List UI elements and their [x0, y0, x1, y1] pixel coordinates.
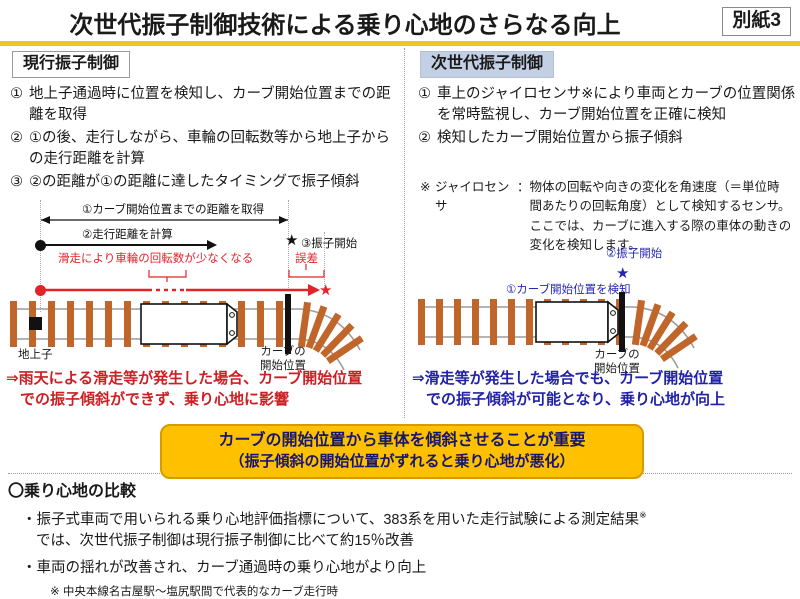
comparison-bullet-1-ref: ※ [639, 510, 647, 520]
list-item: ② 検知したカーブ開始位置から振子傾斜 [418, 128, 796, 149]
list-item-number: ① [418, 84, 437, 125]
list-item: ① 車上のジャイロセンサ※により車両とカーブの位置関係を常時監視し、カーブ開始位… [418, 84, 796, 125]
list-item-text: ①の後、走行しながら、車輪の回転数等から地上子からの走行距離を計算 [29, 128, 398, 169]
diagram-next-gen-control: ②振子開始 ★ ①カーブ開始位置を検知 [416, 248, 796, 368]
heading-current-control: 現行振子制御 [12, 51, 130, 78]
page-title: 次世代振子制御技術による乗り心地のさらなる向上 [0, 5, 690, 40]
label-curve-start-line1: カーブの [594, 349, 639, 361]
key-message-box: カーブの開始位置から車体を傾斜させることが重要 （振子傾斜の開始位置がずれると乗… [160, 424, 644, 479]
annotation-detect-label: ①カーブ開始位置を検知 [506, 284, 631, 297]
label-ground-coil: 地上子 [18, 348, 53, 362]
title-row: 次世代振子制御技術による乗り心地のさらなる向上 別紙3 [0, 2, 800, 40]
tilt-start-star-black: ★ [285, 233, 298, 248]
comparison-section: 〇乗り心地の比較 ・振子式車両で用いられる乗り心地評価指標について、383系を用… [8, 482, 798, 599]
footnote-body: 物体の回転や向きの変化を角速度（＝単位時間あたりの回転角度）として検知するセンサ… [530, 178, 792, 256]
annotation-slip-label: 滑走により車輪の回転数が少なくなる [58, 253, 253, 266]
ground-coil-dot-black [35, 240, 46, 251]
comparison-bullet-1-line1: ・振子式車両で用いられる乗り心地評価指標について、383系を用いた走行試験による… [22, 512, 639, 528]
conclusion-next-gen-control: ⇒滑走等が発生した場合でも、カーブ開始位置 での振子傾斜が可能となり、乗り心地が… [412, 369, 798, 410]
footnote-gyro-sensor: ※ ジャイロセンサ ： 物体の回転や向きの変化を角速度（＝単位時間あたりの回転角… [420, 178, 792, 256]
tilt-start-star-blue: ★ [616, 266, 629, 281]
footnote-term: ジャイロセンサ [435, 178, 517, 256]
list-item-number: ① [10, 84, 29, 125]
annotation-distance-label: ①カーブ開始位置までの距離を取得 [82, 204, 264, 217]
slide-page: 次世代振子制御技術による乗り心地のさらなる向上 別紙3 現行振子制御 ① 地上子… [0, 0, 800, 598]
ground-coil-dot-red [35, 285, 46, 296]
appendix-badge: 別紙3 [722, 7, 791, 36]
list-item-number: ③ [10, 172, 29, 193]
key-message-line2: （振子傾斜の開始位置がずれると乗り心地が悪化） [162, 452, 642, 472]
list-item: ② ①の後、走行しながら、車輪の回転数等から地上子からの走行距離を計算 [10, 128, 398, 169]
label-ground-coil-text: 地上子 [18, 349, 53, 361]
annotation-travel-label: ②走行距離を計算 [82, 229, 173, 242]
list-item: ① 地上子通過時に位置を検知し、カーブ開始位置までの距離を取得 [10, 84, 398, 125]
annotation-tilt-start-label: ③振子開始 [301, 238, 357, 251]
comparison-heading: 〇乗り心地の比較 [8, 482, 798, 503]
footnote-colon: ： [517, 178, 530, 256]
annotation-tilt-start-label-right: ②振子開始 [606, 248, 662, 261]
procedure-list-next-gen: ① 車上のジャイロセンサ※により車両とカーブの位置関係を常時監視し、カーブ開始位… [418, 84, 796, 152]
footnote-mark: ※ [420, 178, 435, 256]
list-item-text: ②の距離が①の距離に達したタイミングで振子傾斜 [29, 172, 398, 193]
list-item-text: 地上子通過時に位置を検知し、カーブ開始位置までの距離を取得 [29, 84, 398, 125]
comparison-bullet-1: ・振子式車両で用いられる乗り心地評価指標について、383系を用いた走行試験による… [8, 509, 798, 552]
procedure-list-current: ① 地上子通過時に位置を検知し、カーブ開始位置までの距離を取得 ② ①の後、走行… [10, 84, 398, 196]
conclusion-current-control: ⇒雨天による滑走等が発生した場合、カーブ開始位置 での振子傾斜ができず、乗り心地… [6, 369, 400, 410]
list-item-text: 車上のジャイロセンサ※により車両とカーブの位置関係を常時監視し、カーブ開始位置を… [437, 84, 796, 125]
conclusion-line1: ⇒雨天による滑走等が発生した場合、カーブ開始位置 [6, 370, 362, 387]
diagram-current-control: ①カーブ開始位置までの距離を取得 ②走行距離を計算 滑走により車輪の回転数が少な… [8, 198, 400, 368]
column-divider [404, 48, 405, 418]
list-item: ③ ②の距離が①の距離に達したタイミングで振子傾斜 [10, 172, 398, 193]
label-curve-start-line1: カーブの [260, 346, 305, 358]
conclusion-line2: での振子傾斜ができず、乗り心地に影響 [6, 390, 400, 411]
conclusion-line1: ⇒滑走等が発生した場合でも、カーブ開始位置 [412, 370, 723, 387]
tilt-start-star-red: ★ [319, 283, 332, 298]
annotation-error-label: 誤差 [295, 253, 318, 266]
list-item-number: ② [418, 128, 437, 149]
list-item-number: ② [10, 128, 29, 169]
comparison-bullet-2: ・車両の揺れが改善され、カーブ通過時の乗り心地がより向上 [8, 558, 798, 579]
list-item-text: 検知したカーブ開始位置から振子傾斜 [437, 128, 796, 149]
header-divider-rule [0, 41, 800, 46]
heading-next-gen-control: 次世代振子制御 [420, 51, 554, 78]
key-message-line1: カーブの開始位置から車体を傾斜させることが重要 [162, 430, 642, 452]
comparison-footnote: ※ 中央本線名古屋駅～塩尻駅間で代表的なカーブ走行時 [8, 583, 798, 599]
comparison-bullet-1-line2: では、次世代振子制御は現行振子制御に比べて約15％改善 [22, 531, 798, 552]
conclusion-line2: での振子傾斜が可能となり、乗り心地が向上 [412, 390, 798, 411]
